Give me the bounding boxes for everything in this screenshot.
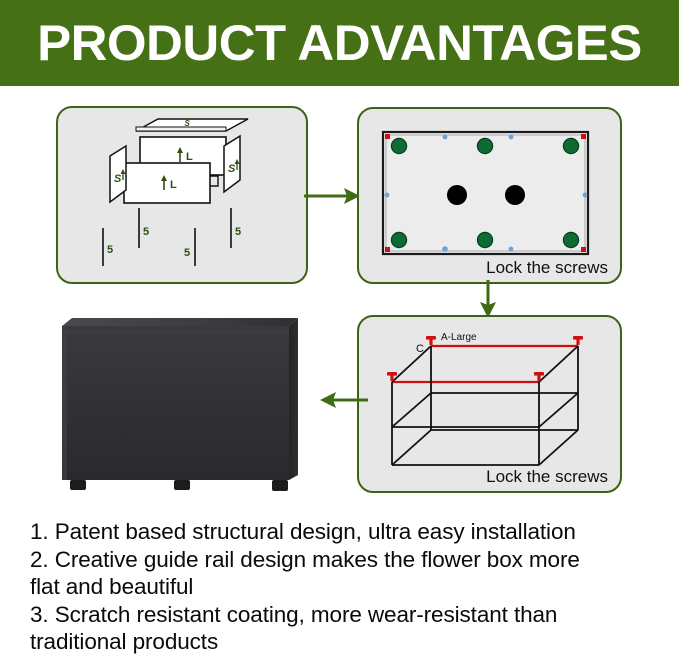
- arrow-down-icon: [470, 280, 506, 320]
- svg-text:5: 5: [235, 226, 241, 238]
- product-advantages-infographic: PRODUCT ADVANTAGES S L L: [0, 0, 679, 665]
- feature-list: 1. Patent based structural design, ultra…: [30, 518, 660, 656]
- panel-assembly-drawing: S L L S: [58, 108, 308, 284]
- screws-card-caption: Lock the screws: [486, 258, 608, 278]
- feature-line: flat and beautiful: [30, 573, 660, 601]
- svg-text:5: 5: [107, 244, 113, 256]
- label-corner-c: C: [416, 343, 424, 355]
- page-title: PRODUCT ADVANTAGES: [37, 18, 642, 68]
- label-top-panel: S: [184, 119, 190, 128]
- feature-line: 2. Creative guide rail design makes the …: [30, 546, 660, 574]
- feature-line: traditional products: [30, 628, 660, 656]
- frame-card-caption: Lock the screws: [486, 467, 608, 487]
- wireframe-box-card: A-Large C Lock the screws: [357, 315, 622, 493]
- feature-line: 1. Patent based structural design, ultra…: [30, 518, 660, 546]
- label-a-large: A-Large: [441, 332, 477, 343]
- arrow-right-icon: [304, 180, 362, 212]
- header-banner: PRODUCT ADVANTAGES: [0, 0, 679, 86]
- arrow-left-icon: [320, 384, 368, 416]
- rail-marks: 5 5 5 5: [103, 208, 241, 266]
- svg-text:5: 5: [143, 226, 149, 238]
- box-feet: [70, 480, 288, 491]
- black-flower-box-photo: [26, 300, 326, 505]
- base-plate-screws-card: Lock the screws: [357, 107, 622, 284]
- svg-text:L: L: [186, 151, 193, 163]
- panel-assembly-card: S L L S: [56, 106, 308, 284]
- svg-text:S: S: [114, 173, 122, 185]
- svg-text:5: 5: [184, 247, 190, 259]
- feature-line: 3. Scratch resistant coating, more wear-…: [30, 601, 660, 629]
- svg-text:S: S: [228, 163, 236, 175]
- svg-text:L: L: [170, 179, 177, 191]
